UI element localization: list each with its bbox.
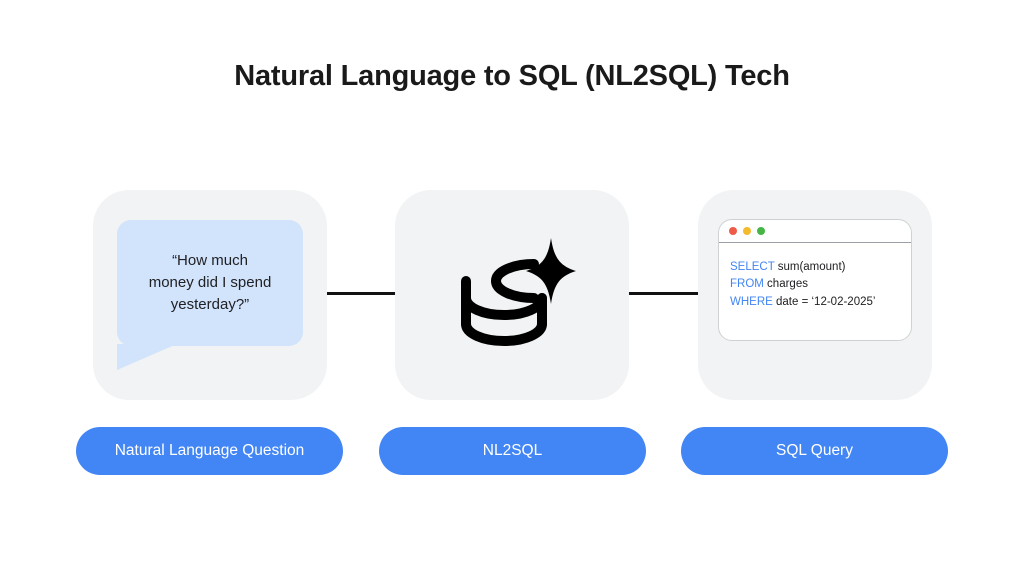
sql-code-block: SELECT sum(amount) FROM charges WHERE da… bbox=[719, 243, 911, 311]
connector-stage2-stage3 bbox=[629, 292, 698, 295]
database-sparkle-icon bbox=[446, 236, 578, 354]
stage-sql-query: SELECT sum(amount) FROM charges WHERE da… bbox=[698, 190, 932, 400]
sql-text: date = ‘12-02-2025’ bbox=[773, 296, 876, 308]
pill-label: SQL Query bbox=[776, 442, 853, 460]
code-window-icon: SELECT sum(amount) FROM charges WHERE da… bbox=[718, 219, 912, 341]
pill-nl2sql[interactable]: NL2SQL bbox=[379, 427, 646, 475]
pill-natural-language-question[interactable]: Natural Language Question bbox=[76, 427, 343, 475]
speech-bubble-icon: “How much money did I spend yesterday?” bbox=[117, 220, 303, 370]
code-window-titlebar bbox=[719, 220, 911, 243]
sql-line: WHERE date = ‘12-02-2025’ bbox=[730, 294, 911, 311]
pill-label: NL2SQL bbox=[483, 442, 542, 460]
speech-bubble-body: “How much money did I spend yesterday?” bbox=[117, 220, 303, 346]
sql-text: sum(amount) bbox=[775, 261, 846, 273]
panel-nl2sql bbox=[395, 190, 629, 400]
sql-line: SELECT sum(amount) bbox=[730, 259, 911, 276]
speech-bubble-tail-icon bbox=[117, 344, 177, 370]
minimize-dot-icon bbox=[743, 227, 751, 235]
maximize-dot-icon bbox=[757, 227, 765, 235]
pill-label: Natural Language Question bbox=[115, 442, 305, 460]
nl2sql-flow-diagram: “How much money did I spend yesterday?” bbox=[0, 190, 1024, 480]
sql-keyword: WHERE bbox=[730, 296, 773, 308]
speech-bubble-text: “How much money did I spend yesterday?” bbox=[149, 250, 272, 315]
panel-natural-language-question: “How much money did I spend yesterday?” bbox=[93, 190, 327, 400]
sql-keyword: FROM bbox=[730, 278, 764, 290]
close-dot-icon bbox=[729, 227, 737, 235]
page-title: Natural Language to SQL (NL2SQL) Tech bbox=[0, 60, 1024, 93]
panel-sql-query: SELECT sum(amount) FROM charges WHERE da… bbox=[698, 190, 932, 400]
stage-natural-language-question: “How much money did I spend yesterday?” bbox=[93, 190, 327, 400]
stage-nl2sql bbox=[395, 190, 629, 400]
sql-keyword: SELECT bbox=[730, 261, 775, 273]
sql-line: FROM charges bbox=[730, 276, 911, 293]
pill-sql-query[interactable]: SQL Query bbox=[681, 427, 948, 475]
sql-text: charges bbox=[764, 278, 808, 290]
connector-stage1-stage2 bbox=[327, 292, 396, 295]
